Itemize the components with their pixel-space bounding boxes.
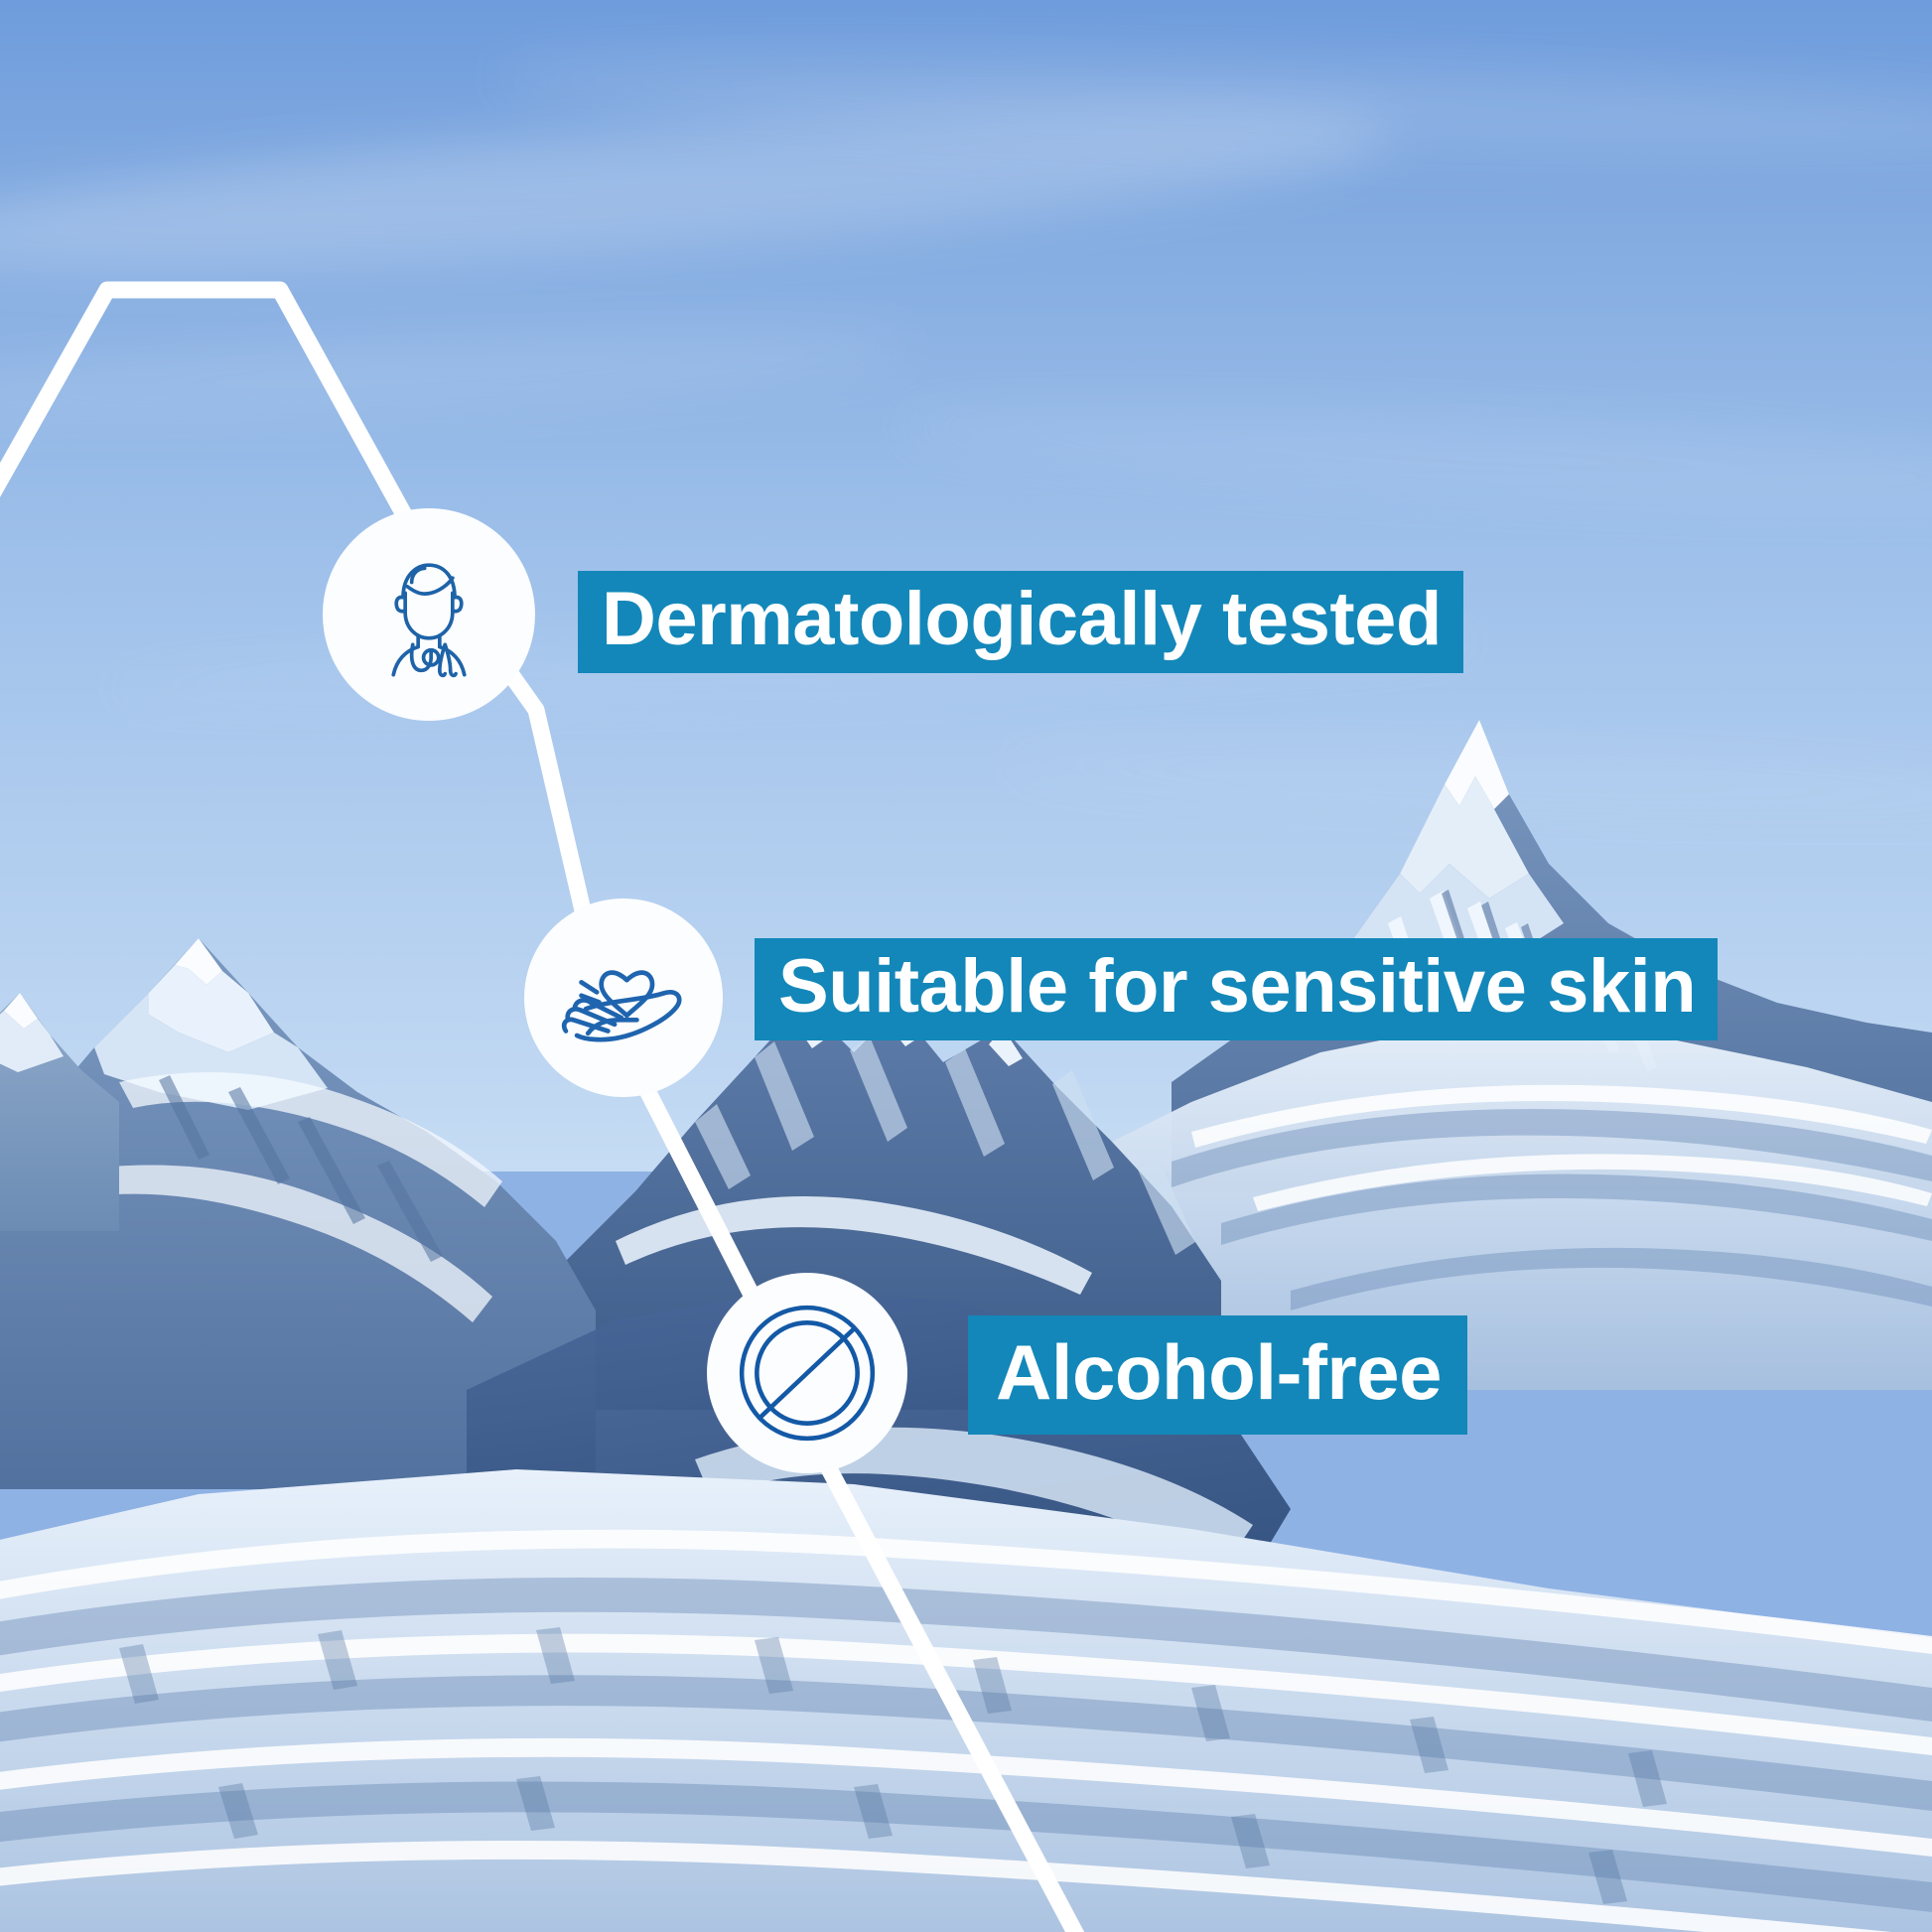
feature-label: Suitable for sensitive skin bbox=[778, 949, 1696, 1025]
feature-label: Dermatologically tested bbox=[602, 582, 1442, 657]
doctor-stethoscope-icon bbox=[364, 550, 493, 679]
prohibited-circle-icon bbox=[732, 1298, 883, 1449]
icon-bubble-alcohol-free bbox=[707, 1273, 907, 1473]
feature-banner-suitable-for-sensitive-skin: Suitable for sensitive skin bbox=[755, 938, 1718, 1040]
product-feature-infographic: Dermatologically tested Suitable for sen… bbox=[0, 0, 1932, 1932]
feature-banner-dermatologically-tested: Dermatologically tested bbox=[578, 571, 1463, 673]
hand-heart-icon bbox=[557, 931, 690, 1064]
icon-bubble-suitable-for-sensitive-skin bbox=[524, 898, 723, 1097]
feature-banner-alcohol-free: Alcohol-free bbox=[968, 1315, 1467, 1435]
feature-label: Alcohol-free bbox=[996, 1333, 1442, 1411]
icon-bubble-dermatologically-tested bbox=[323, 508, 535, 721]
